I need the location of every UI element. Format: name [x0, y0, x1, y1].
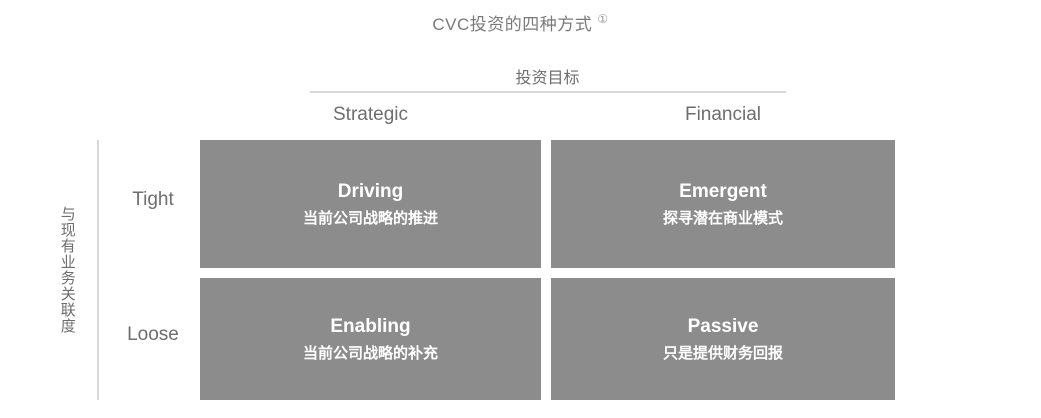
matrix-cell-description: 当前公司战略的补充: [303, 344, 438, 364]
matrix-cell-term: Driving: [338, 180, 403, 204]
matrix-cell-term: Emergent: [679, 180, 767, 204]
matrix-cell-enabling[interactable]: Enabling 当前公司战略的补充: [200, 278, 541, 400]
row-header-loose: Loose: [112, 324, 194, 346]
matrix-cell-description: 探寻潜在商业模式: [663, 209, 783, 229]
page-title-text: CVC投资的四种方式: [432, 15, 592, 34]
matrix-cell-description: 只是提供财务回报: [663, 344, 783, 364]
row-header-tight: Tight: [112, 189, 194, 211]
column-header-financial: Financial: [551, 104, 895, 126]
matrix-diagram: CVC投资的四种方式① 投资目标 Strategic Financial 与现有…: [0, 0, 1041, 418]
matrix-cell-term: Passive: [688, 315, 759, 339]
row-axis-divider: [97, 140, 99, 400]
matrix-cell-term: Enabling: [330, 315, 410, 339]
page-title: CVC投资的四种方式①: [0, 10, 1041, 35]
column-header-strategic: Strategic: [200, 104, 541, 126]
row-axis-label-text: 与现有业务关联度: [58, 206, 75, 334]
matrix-cell-emergent[interactable]: Emergent 探寻潜在商业模式: [551, 140, 895, 268]
footnote-marker-icon: ①: [597, 12, 608, 26]
matrix-cell-driving[interactable]: Driving 当前公司战略的推进: [200, 140, 541, 268]
column-axis-divider: [310, 91, 786, 93]
matrix-cell-passive[interactable]: Passive 只是提供财务回报: [551, 278, 895, 400]
matrix-cell-description: 当前公司战略的推进: [303, 209, 438, 229]
row-axis-label: 与现有业务关联度: [54, 140, 80, 400]
column-axis-label: 投资目标: [310, 64, 785, 88]
